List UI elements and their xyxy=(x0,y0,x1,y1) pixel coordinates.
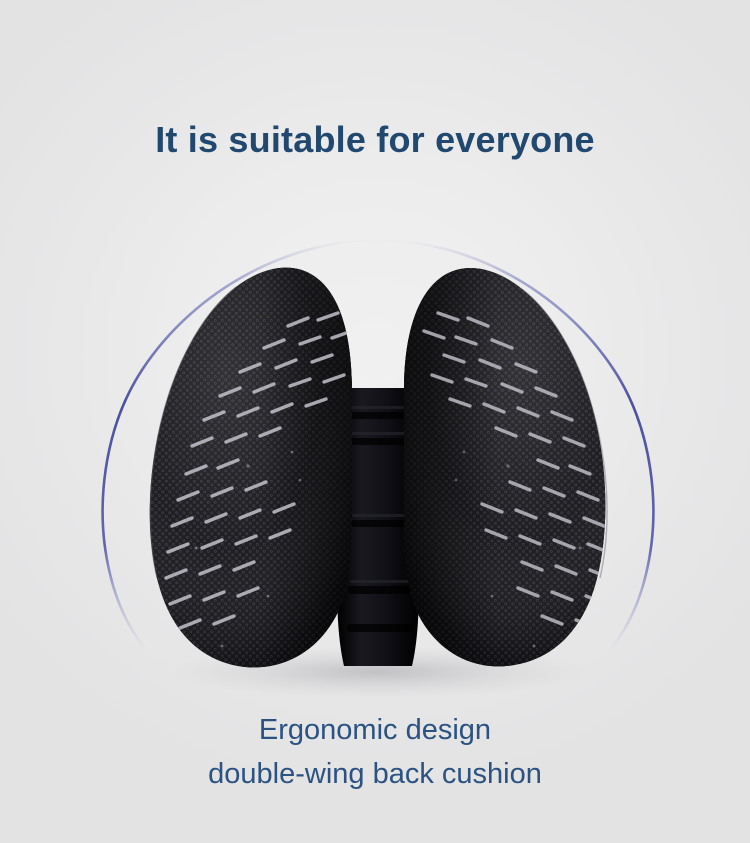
left-wing-panel xyxy=(130,250,370,680)
caption-block: Ergonomic design double-wing back cushio… xyxy=(0,708,750,796)
caption-line-2: double-wing back cushion xyxy=(0,752,750,796)
caption-line-1: Ergonomic design xyxy=(0,708,750,752)
product-feature-banner: It is suitable for everyone xyxy=(0,0,750,843)
right-wing-panel xyxy=(390,250,630,680)
